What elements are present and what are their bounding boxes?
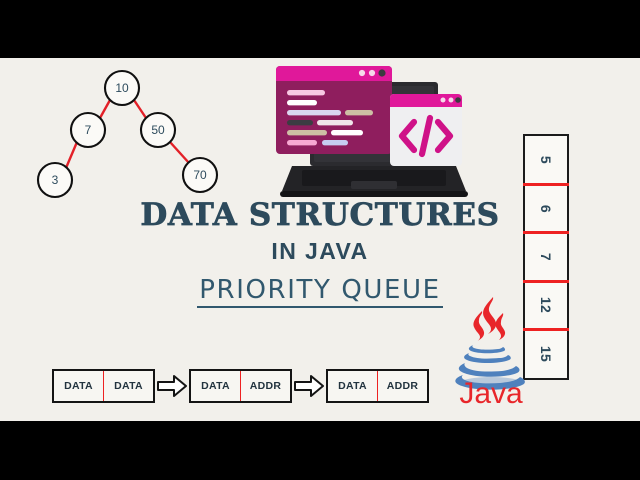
letterbox-bottom xyxy=(0,421,640,480)
ll-cell-data: DATA xyxy=(191,371,240,401)
code-window-small xyxy=(390,94,462,166)
tree-node-label: 50 xyxy=(151,123,165,137)
ll-cell-data: DATA xyxy=(54,371,103,401)
ll-cell-addr: DATA xyxy=(103,371,153,401)
tree-node-root: 10 xyxy=(105,71,139,105)
array-cell-value: 12 xyxy=(538,297,554,313)
tree-node-left: 7 xyxy=(71,113,105,147)
topic-title: PRIORITY QUEUE xyxy=(197,276,442,308)
window-dot xyxy=(455,97,461,103)
page-subtitle: IN JAVA xyxy=(120,240,520,263)
tree-node-label: 70 xyxy=(193,168,207,182)
java-steam-icon xyxy=(473,297,505,341)
binary-tree-diagram: 10 7 50 3 70 xyxy=(0,58,260,218)
ll-cell-addr: ADDR xyxy=(240,371,290,401)
arrow-right-icon xyxy=(292,369,326,403)
array-cell-value: 15 xyxy=(538,346,554,362)
laptop-illustration xyxy=(262,58,474,210)
array-cell: 6 xyxy=(525,184,567,232)
page-title: DATA STRUCTURES xyxy=(120,200,520,231)
window-dot xyxy=(441,98,446,103)
window-dot xyxy=(369,70,375,76)
tree-edge xyxy=(66,142,77,168)
tree-edge xyxy=(170,142,189,163)
linked-list-node: DATA DATA xyxy=(52,369,155,403)
tree-edge xyxy=(134,100,146,118)
java-wordmark: Java xyxy=(459,377,523,407)
array-cell: 7 xyxy=(525,233,567,281)
linked-list-node: DATA ADDR xyxy=(326,369,429,403)
letterbox-top xyxy=(0,0,640,58)
arrow-right-icon xyxy=(155,369,189,403)
tree-node-right-right: 70 xyxy=(183,158,217,192)
tree-node-right: 50 xyxy=(141,113,175,147)
tree-node-label: 3 xyxy=(52,173,59,187)
ll-cell-addr: ADDR xyxy=(377,371,427,401)
tree-node-left-left: 3 xyxy=(38,163,72,197)
linked-list-node: DATA ADDR xyxy=(189,369,292,403)
window-dot xyxy=(378,69,385,76)
tree-edge xyxy=(100,100,110,118)
window-dot xyxy=(449,98,454,103)
tree-node-label: 10 xyxy=(115,81,129,95)
thumbnail-content-area: 10 7 50 3 70 xyxy=(0,58,640,421)
window-dot xyxy=(359,70,365,76)
title-block: DATA STRUCTURES IN JAVA PRIORITY QUEUE xyxy=(120,200,520,308)
array-cell-value: 7 xyxy=(538,253,554,261)
java-logo: Java xyxy=(443,295,539,407)
laptop-trackpad xyxy=(351,181,397,189)
tree-node-label: 7 xyxy=(85,123,92,137)
array-cell-value: 5 xyxy=(538,156,554,164)
code-window-main xyxy=(276,66,392,154)
ll-cell-data: DATA xyxy=(328,371,377,401)
video-thumbnail-canvas: 10 7 50 3 70 xyxy=(0,0,640,480)
topic-wrapper: PRIORITY QUEUE xyxy=(197,276,442,308)
array-cell-value: 6 xyxy=(538,205,554,213)
linked-list-diagram: DATA DATA DATA ADDR DATA ADDR xyxy=(52,368,429,404)
array-cell: 5 xyxy=(525,136,567,184)
